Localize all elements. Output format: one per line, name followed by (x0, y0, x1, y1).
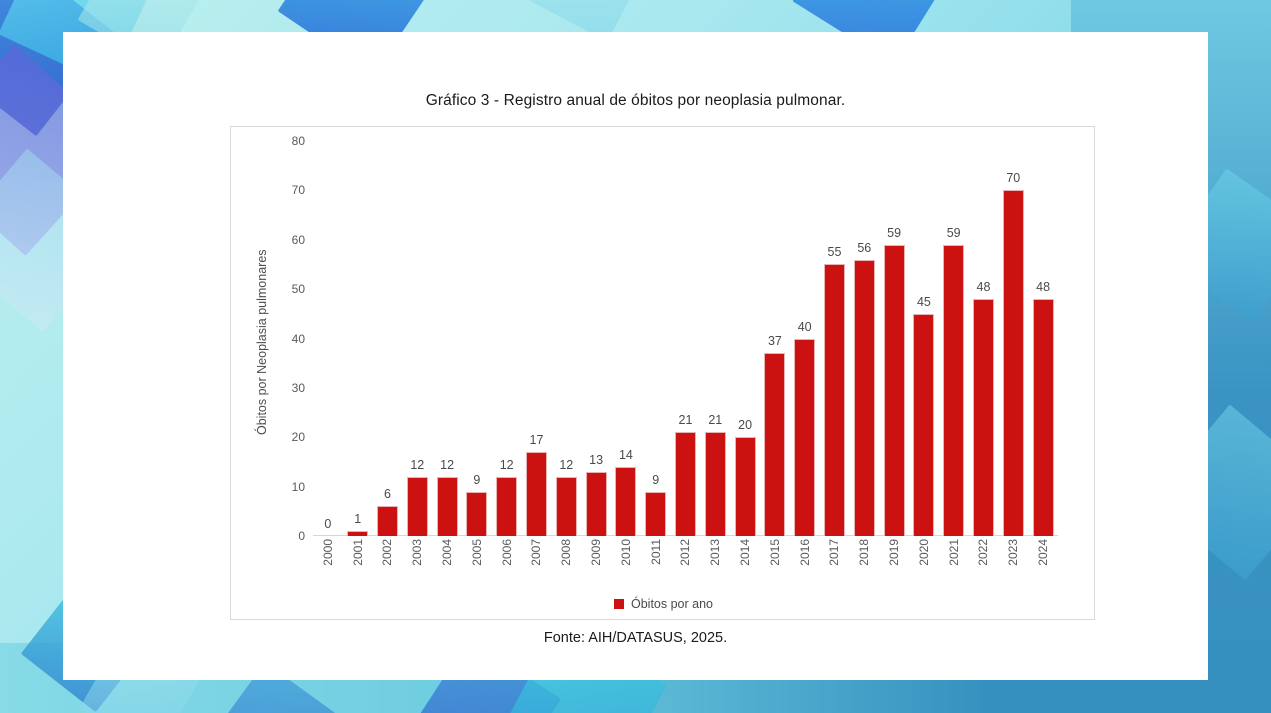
bar-slot: 14 (611, 141, 641, 536)
x-axis-tick-label: 2006 (500, 539, 514, 566)
bar-value-label: 37 (768, 334, 782, 348)
chart-panel: Óbitos por Neoplasia pulmonares 01020304… (230, 126, 1095, 620)
x-axis-tick-labels: 2000200120022003200420052006200720082009… (313, 539, 1058, 601)
bar[interactable] (1033, 299, 1054, 536)
x-axis-tick-label: 2016 (798, 539, 812, 566)
x-axis-tick-label: 2015 (768, 539, 782, 566)
bar-value-label: 13 (589, 453, 603, 467)
bar-value-label: 0 (324, 517, 331, 531)
x-axis-tick: 2023 (998, 539, 1028, 566)
bar-slot: 21 (671, 141, 701, 536)
x-axis-tick: 2019 (879, 539, 909, 566)
bar-value-label: 48 (977, 280, 991, 294)
x-axis-tick: 2020 (909, 539, 939, 566)
x-axis-tick-label: 2011 (649, 539, 663, 565)
x-axis-tick: 2017 (820, 539, 850, 566)
bar-slot: 6 (373, 141, 403, 536)
bar-value-label: 21 (708, 413, 722, 427)
bar-value-label: 1 (354, 512, 361, 526)
y-axis-tick: 0 (298, 529, 305, 543)
y-axis-tick: 20 (292, 430, 305, 444)
x-axis-tick: 2009 (581, 539, 611, 566)
x-axis-tick: 2005 (462, 539, 492, 566)
x-axis-tick-label: 2003 (410, 539, 424, 566)
bar-slot: 0 (313, 141, 343, 536)
bar-value-label: 9 (652, 473, 659, 487)
bar[interactable] (586, 472, 607, 536)
bar-value-label: 59 (887, 226, 901, 240)
bar-slot: 12 (432, 141, 462, 536)
bar-slot: 9 (641, 141, 671, 536)
bar[interactable] (854, 260, 875, 537)
x-axis-tick: 2022 (969, 539, 999, 566)
legend-label: Óbitos por ano (631, 597, 713, 611)
bar[interactable] (884, 245, 905, 536)
x-axis-tick-label: 2014 (738, 539, 752, 566)
bar[interactable] (735, 437, 756, 536)
chart-legend: Óbitos por ano (231, 597, 1096, 611)
bar-value-label: 12 (500, 458, 514, 472)
x-axis-tick: 2014 (730, 539, 760, 566)
bar[interactable] (973, 299, 994, 536)
x-axis-tick: 2016 (790, 539, 820, 566)
bar-slot: 20 (730, 141, 760, 536)
y-axis-tick: 80 (292, 134, 305, 148)
bar-value-label: 12 (410, 458, 424, 472)
bar-value-label: 12 (440, 458, 454, 472)
x-axis-tick-label: 2008 (559, 539, 573, 566)
bar-slot: 37 (760, 141, 790, 536)
x-axis-tick-label: 2009 (589, 539, 603, 566)
x-axis-tick: 2015 (760, 539, 790, 566)
bar-slot: 9 (462, 141, 492, 536)
bar-slot: 17 (522, 141, 552, 536)
bar[interactable] (645, 492, 666, 536)
x-axis-tick-label: 2000 (321, 539, 335, 566)
bar-slot: 48 (1028, 141, 1058, 536)
bar[interactable] (824, 264, 845, 536)
x-axis-tick: 2001 (343, 539, 373, 566)
bar-slot: 12 (551, 141, 581, 536)
bar[interactable] (556, 477, 577, 536)
bar-slot: 48 (969, 141, 999, 536)
bar-slot: 56 (849, 141, 879, 536)
legend-swatch-icon (614, 599, 624, 609)
bar[interactable] (913, 314, 934, 536)
plot-wrapper: Óbitos por Neoplasia pulmonares 01020304… (231, 127, 1094, 619)
slide-card: Gráfico 3 - Registro anual de óbitos por… (63, 32, 1208, 680)
bar[interactable] (794, 339, 815, 537)
bar-slot: 12 (492, 141, 522, 536)
x-axis-tick-label: 2013 (708, 539, 722, 566)
y-axis-tick: 30 (292, 381, 305, 395)
y-axis-title: Óbitos por Neoplasia pulmonares (253, 177, 271, 507)
bar[interactable] (466, 492, 487, 536)
bar[interactable] (615, 467, 636, 536)
bar-slot: 13 (581, 141, 611, 536)
y-axis-tick: 10 (292, 480, 305, 494)
x-axis-tick-label: 2023 (1006, 539, 1020, 566)
x-axis-tick: 2011 (641, 539, 671, 565)
x-axis-tick-label: 2012 (678, 539, 692, 566)
bar-value-label: 9 (473, 473, 480, 487)
bar-slot: 59 (879, 141, 909, 536)
bar-slot: 59 (939, 141, 969, 536)
x-axis-tick: 2008 (551, 539, 581, 566)
x-axis-tick-label: 2020 (917, 539, 931, 566)
bar-value-label: 55 (828, 245, 842, 259)
bar-value-label: 45 (917, 295, 931, 309)
bar-value-label: 12 (559, 458, 573, 472)
bar[interactable] (496, 477, 517, 536)
x-axis-tick: 2012 (671, 539, 701, 566)
x-axis-tick-label: 2021 (947, 539, 961, 566)
bar-value-label: 59 (947, 226, 961, 240)
bar-value-label: 14 (619, 448, 633, 462)
chart-source-note: Fonte: AIH/DATASUS, 2025. (63, 630, 1208, 646)
x-axis-tick: 2003 (402, 539, 432, 566)
x-axis-tick-label: 2001 (351, 539, 365, 566)
bar-value-label: 21 (679, 413, 693, 427)
x-axis-tick-label: 2004 (440, 539, 454, 566)
x-axis-tick: 2024 (1028, 539, 1058, 566)
bar-slot: 70 (998, 141, 1028, 536)
bar[interactable] (764, 353, 785, 536)
bar-slot: 21 (700, 141, 730, 536)
x-axis-tick: 2006 (492, 539, 522, 566)
x-axis-tick: 2000 (313, 539, 343, 566)
x-axis-tick-label: 2019 (887, 539, 901, 566)
y-axis-tick: 70 (292, 183, 305, 197)
y-axis-tick: 40 (292, 332, 305, 346)
x-axis-tick: 2021 (939, 539, 969, 566)
bar-value-label: 20 (738, 418, 752, 432)
x-axis-tick: 2007 (522, 539, 552, 566)
bar[interactable] (526, 452, 547, 536)
x-axis-tick-label: 2017 (827, 539, 841, 566)
bar[interactable] (1003, 190, 1024, 536)
x-axis-tick-label: 2010 (619, 539, 633, 566)
slide-background: Gráfico 3 - Registro anual de óbitos por… (0, 0, 1271, 713)
bar-value-label: 6 (384, 487, 391, 501)
y-axis-tick: 60 (292, 233, 305, 247)
x-axis-tick-label: 2024 (1036, 539, 1050, 566)
x-axis-tick-label: 2022 (976, 539, 990, 566)
y-axis-tick-labels: 01020304050607080 (271, 141, 305, 536)
bar-value-label: 70 (1006, 171, 1020, 185)
x-axis-tick: 2013 (700, 539, 730, 566)
bar-slot: 45 (909, 141, 939, 536)
x-axis-tick: 2004 (432, 539, 462, 566)
x-axis-tick-label: 2018 (857, 539, 871, 566)
chart-title: Gráfico 3 - Registro anual de óbitos por… (63, 92, 1208, 110)
y-axis-tick: 50 (292, 282, 305, 296)
x-axis-tick-label: 2007 (529, 539, 543, 566)
bar-slot: 55 (820, 141, 850, 536)
bar[interactable] (407, 477, 428, 536)
bar[interactable] (943, 245, 964, 536)
bar-slot: 1 (343, 141, 373, 536)
plot-area: 0161212912171213149212120374055565945594… (313, 141, 1058, 536)
bar-value-label: 17 (530, 433, 544, 447)
x-axis-tick: 2018 (849, 539, 879, 566)
bar-value-label: 40 (798, 320, 812, 334)
bar[interactable] (675, 432, 696, 536)
x-axis-tick-label: 2005 (470, 539, 484, 566)
bar[interactable] (437, 477, 458, 536)
x-axis-tick-label: 2002 (380, 539, 394, 566)
x-axis-tick: 2010 (611, 539, 641, 566)
bar-slot: 12 (402, 141, 432, 536)
bar[interactable] (705, 432, 726, 536)
bar-value-label: 48 (1036, 280, 1050, 294)
bar-value-label: 56 (857, 241, 871, 255)
bar-slot: 40 (790, 141, 820, 536)
bar[interactable] (377, 506, 398, 536)
x-axis-tick: 2002 (373, 539, 403, 566)
bar[interactable] (347, 531, 368, 536)
